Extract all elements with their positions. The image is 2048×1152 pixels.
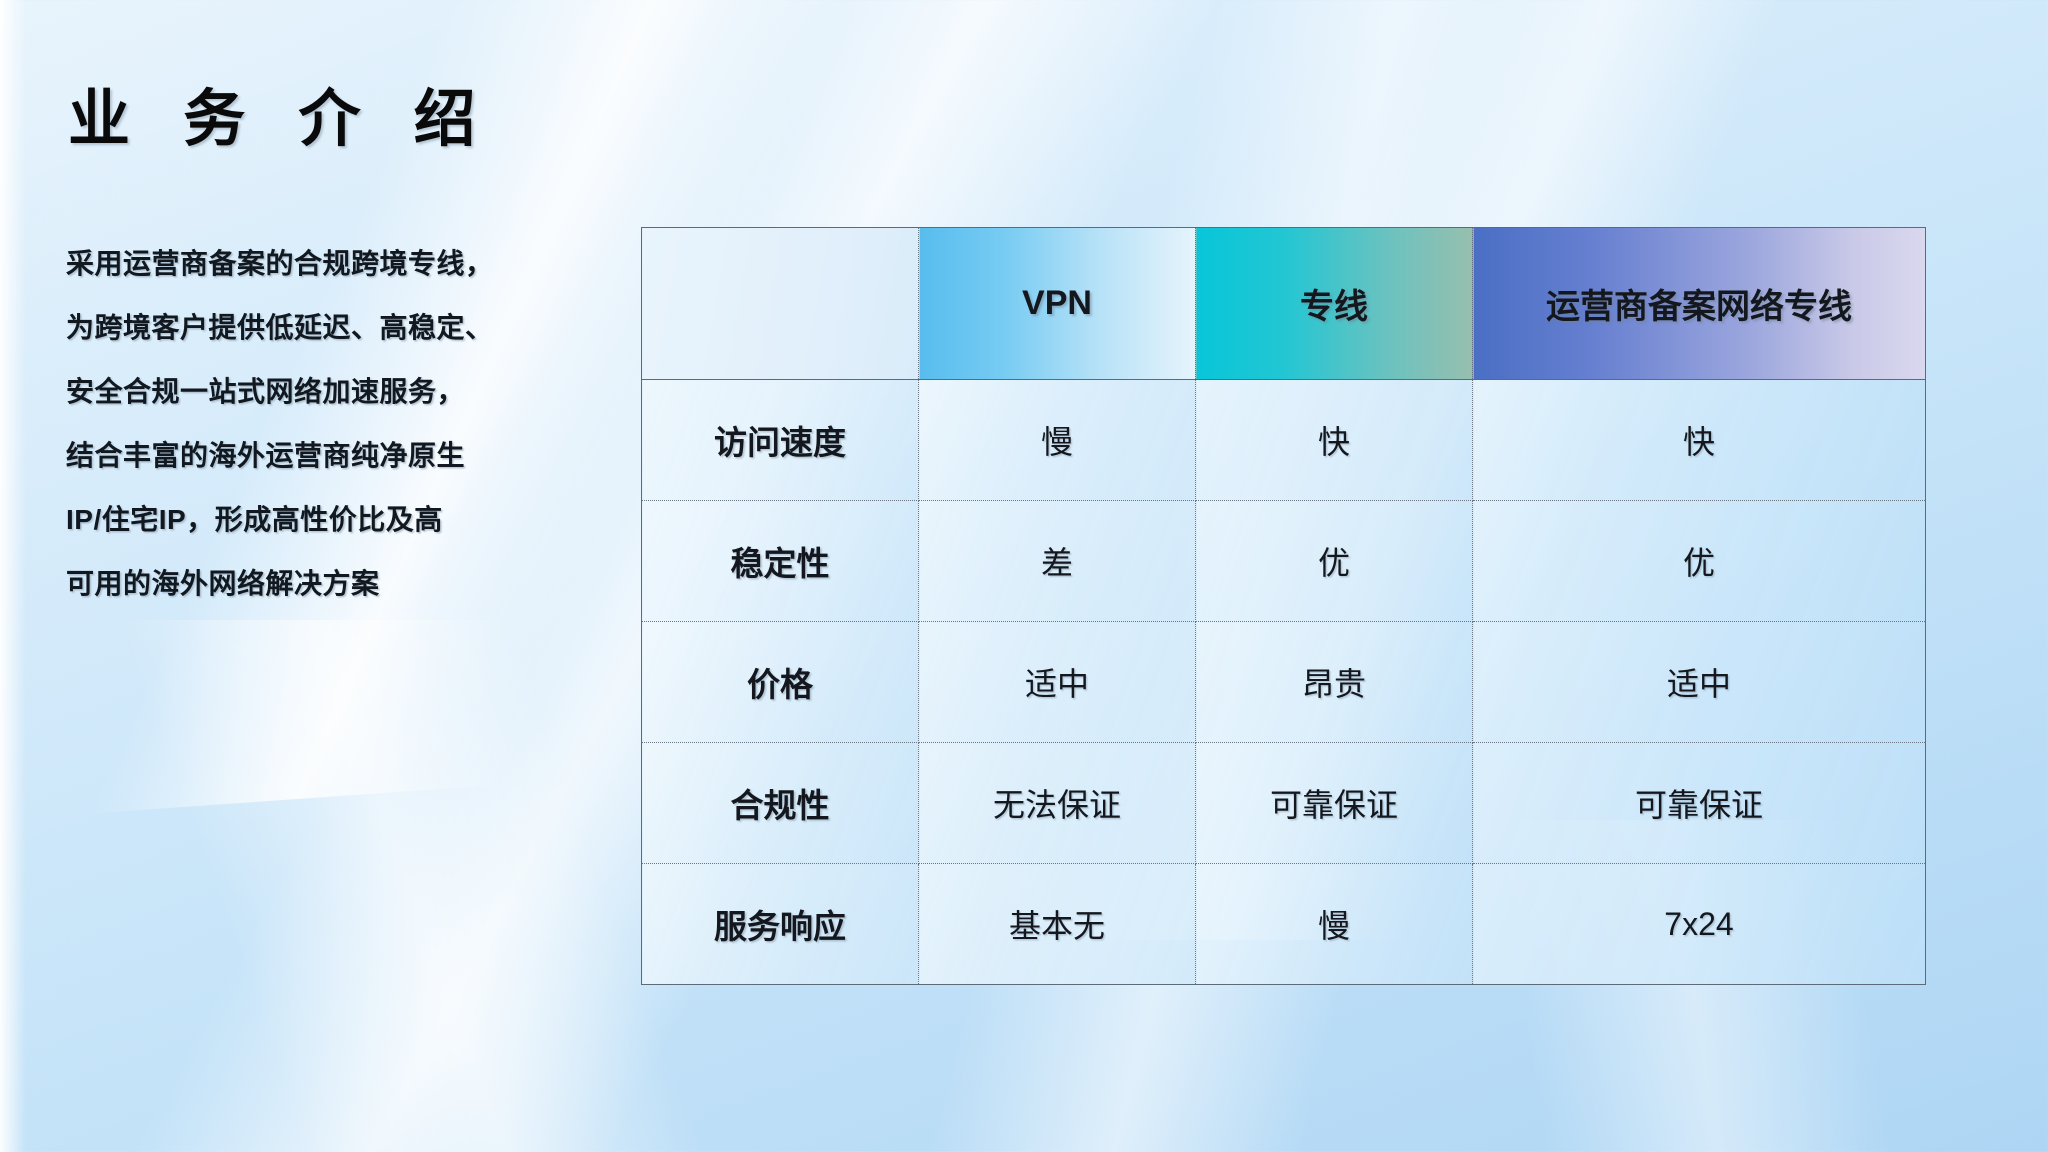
cell-service-response-line: 慢 — [1196, 864, 1473, 985]
intro-line: 可用的海外网络解决方案 — [66, 552, 656, 616]
cell-stability-isp: 优 — [1473, 501, 1926, 622]
background-left-edge-highlight — [0, 0, 26, 1152]
table-header-cell-vpn: VPN — [919, 228, 1196, 380]
intro-line: 为跨境客户提供低延迟、高稳定、 — [66, 296, 656, 360]
cell-service-response-isp: 7x24 — [1473, 864, 1926, 985]
table-header-cell-dedicated-line: 专线 — [1196, 228, 1473, 380]
cell-compliance-line: 可靠保证 — [1196, 743, 1473, 864]
table-header-cell-isp-registered-line: 运营商备案网络专线 — [1473, 228, 1926, 380]
cell-price-line: 昂贵 — [1196, 622, 1473, 743]
table-header: VPN 专线 运营商备案网络专线 — [642, 228, 1926, 380]
cell-service-response-vpn: 基本无 — [919, 864, 1196, 985]
cell-compliance-vpn: 无法保证 — [919, 743, 1196, 864]
table-body: 访问速度 慢 快 快 稳定性 差 优 优 价格 适中 昂贵 适中 合规性 无法保… — [642, 380, 1926, 985]
row-label-price: 价格 — [642, 622, 919, 743]
intro-line: 安全合规一站式网络加速服务， — [66, 360, 656, 424]
cell-access-speed-isp: 快 — [1473, 380, 1926, 501]
page-title: 业 务 介 绍 — [68, 68, 494, 158]
table-header-cell-blank — [642, 228, 919, 380]
cell-price-isp: 适中 — [1473, 622, 1926, 743]
table-header-row: VPN 专线 运营商备案网络专线 — [642, 228, 1926, 380]
comparison-table: VPN 专线 运营商备案网络专线 访问速度 慢 快 快 稳定性 差 优 优 价格… — [641, 227, 1926, 985]
table-row: 服务响应 基本无 慢 7x24 — [642, 864, 1926, 985]
cell-compliance-isp: 可靠保证 — [1473, 743, 1926, 864]
cell-access-speed-vpn: 慢 — [919, 380, 1196, 501]
intro-line: 采用运营商备案的合规跨境专线， — [66, 232, 656, 296]
table-row: 稳定性 差 优 优 — [642, 501, 1926, 622]
intro-line: 结合丰富的海外运营商纯净原生 — [66, 424, 656, 488]
table-row: 合规性 无法保证 可靠保证 可靠保证 — [642, 743, 1926, 864]
cell-stability-vpn: 差 — [919, 501, 1196, 622]
cell-price-vpn: 适中 — [919, 622, 1196, 743]
intro-line: IP/住宅IP，形成高性价比及高 — [66, 488, 656, 552]
row-label-access-speed: 访问速度 — [642, 380, 919, 501]
row-label-stability: 稳定性 — [642, 501, 919, 622]
row-label-service-response: 服务响应 — [642, 864, 919, 985]
table-row: 访问速度 慢 快 快 — [642, 380, 1926, 501]
cell-access-speed-line: 快 — [1196, 380, 1473, 501]
cell-stability-line: 优 — [1196, 501, 1473, 622]
row-label-compliance: 合规性 — [642, 743, 919, 864]
table-row: 价格 适中 昂贵 适中 — [642, 622, 1926, 743]
intro-paragraph: 采用运营商备案的合规跨境专线， 为跨境客户提供低延迟、高稳定、 安全合规一站式网… — [66, 232, 656, 616]
